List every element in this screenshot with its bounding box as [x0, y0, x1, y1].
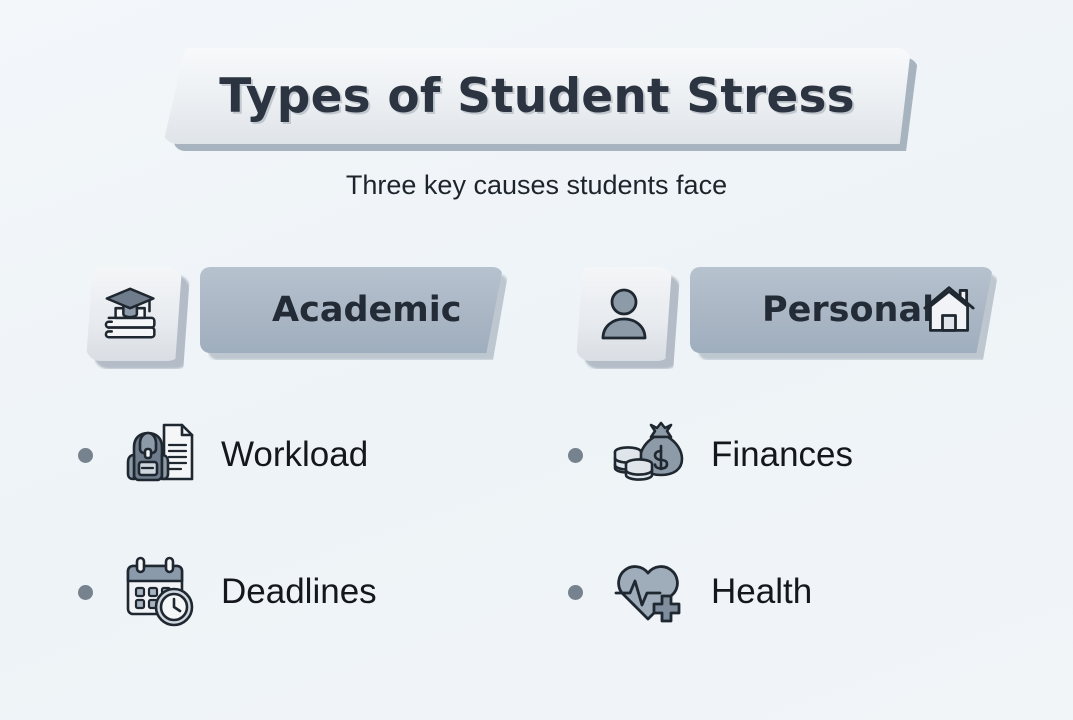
category-tile-academic — [86, 267, 182, 361]
backpack-papers-icon — [117, 412, 203, 498]
category-tile-personal — [576, 267, 672, 361]
category-column-academic: Academic — [78, 262, 513, 370]
title-banner: Types of Student Stress — [163, 48, 918, 151]
list-item: Health — [568, 547, 812, 637]
bullet-dot — [568, 448, 583, 463]
item-label-deadlines: Deadlines — [221, 572, 377, 612]
bullet-dot — [568, 585, 583, 600]
title-banner-face: Types of Student Stress — [163, 48, 911, 144]
category-column-personal: Personal — [568, 262, 1003, 370]
infographic-canvas: Types of Student Stress Three key causes… — [0, 0, 1073, 720]
bullet-dot — [78, 448, 93, 463]
item-label-health: Health — [711, 572, 812, 612]
item-label-finances: Finances — [711, 435, 853, 475]
list-item: Deadlines — [78, 547, 377, 637]
category-label-academic: Academic — [272, 290, 461, 330]
house-icon — [921, 283, 977, 335]
bullet-dot — [78, 585, 93, 600]
category-header-academic: Academic — [78, 262, 513, 370]
calendar-clock-icon — [117, 549, 203, 635]
graduation-cap-books-icon — [103, 283, 165, 345]
category-header-personal: Personal — [568, 262, 1003, 370]
category-label-personal: Personal — [762, 290, 934, 330]
money-bag-coins-icon — [607, 412, 693, 498]
page-title: Types of Student Stress — [219, 69, 855, 124]
category-bar: Academic — [200, 267, 503, 353]
person-icon — [596, 285, 652, 343]
list-item: Finances — [568, 410, 853, 500]
heart-pulse-cross-icon — [607, 549, 693, 635]
item-label-workload: Workload — [221, 435, 368, 475]
list-item: Workload — [78, 410, 368, 500]
category-bar: Personal — [690, 267, 993, 353]
page-subtitle: Three key causes students face — [0, 170, 1073, 201]
